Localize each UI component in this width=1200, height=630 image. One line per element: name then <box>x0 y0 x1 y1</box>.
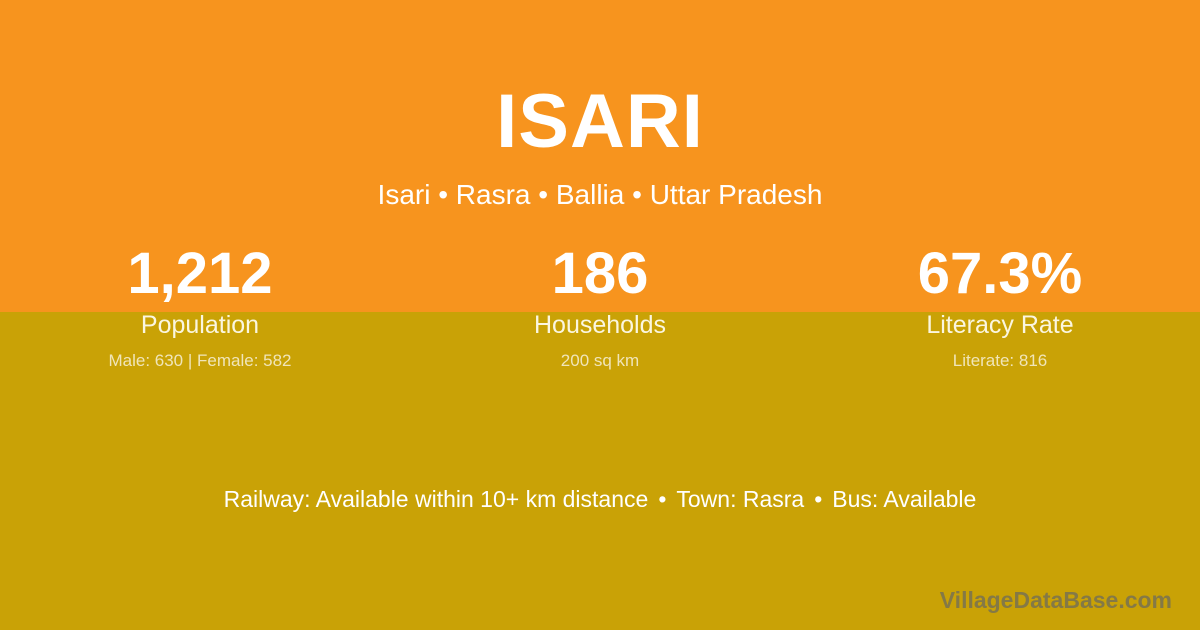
stat-population: 1,212 Population Male: 630 | Female: 582 <box>0 243 400 371</box>
facilities-line: Railway: Available within 10+ km distanc… <box>0 484 1200 514</box>
facility-town: Town: Rasra <box>676 486 804 512</box>
village-info-card: ISARI Isari • Rasra • Ballia • Uttar Pra… <box>0 0 1200 630</box>
facility-separator-2: • <box>804 484 832 514</box>
stat-sub-population: Male: 630 | Female: 582 <box>0 350 400 371</box>
stat-sub-literacy-rate: Literate: 816 <box>800 350 1200 371</box>
stat-value-households: 186 <box>400 243 800 305</box>
stat-value-literacy-rate: 67.3% <box>800 243 1200 305</box>
facility-railway: Railway: Available within 10+ km distanc… <box>224 486 649 512</box>
stat-label-households: Households <box>400 311 800 340</box>
stat-literacy-rate: 67.3% Literacy Rate Literate: 816 <box>800 243 1200 371</box>
facility-bus: Bus: Available <box>832 486 976 512</box>
stat-label-population: Population <box>0 311 400 340</box>
card-header: ISARI Isari • Rasra • Ballia • Uttar Pra… <box>0 0 1200 211</box>
page-title: ISARI <box>0 0 1200 160</box>
stat-label-literacy-rate: Literacy Rate <box>800 311 1200 340</box>
facility-separator-1: • <box>648 484 676 514</box>
stats-row: 1,212 Population Male: 630 | Female: 582… <box>0 243 1200 371</box>
stat-value-population: 1,212 <box>0 243 400 305</box>
breadcrumb: Isari • Rasra • Ballia • Uttar Pradesh <box>0 160 1200 211</box>
watermark-villagedatabase: VillageDataBase.com <box>940 587 1172 613</box>
stat-sub-households: 200 sq km <box>400 350 800 371</box>
stat-households: 186 Households 200 sq km <box>400 243 800 371</box>
